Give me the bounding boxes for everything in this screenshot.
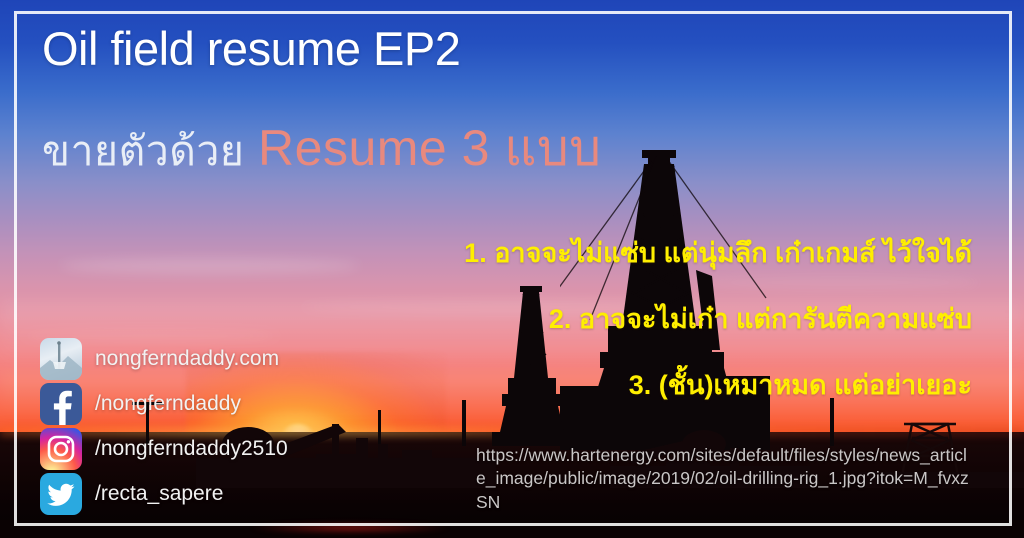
subtitle: ขายตัวด้วย Resume 3 แบบ [42,121,602,177]
social-item-instagram[interactable]: /nongferndaddy2510 [40,428,288,470]
instagram-icon[interactable] [40,428,82,470]
social-label-website: nongferndaddy.com [95,347,279,371]
utility-pole [830,398,834,446]
bullet-list: 1. อาจจะไม่แซ่บ แต่นุ่มลึก เก๋าเกมส์ ไว้… [464,238,972,401]
social-links-list: nongferndaddy.com /nongferndaddy /nongfe… [40,338,288,518]
social-label-facebook: /nongferndaddy [95,392,241,416]
subtitle-thai-prefix: ขายตัวด้วย [42,128,244,174]
subtitle-highlight: Resume 3 แบบ [258,120,601,176]
twitter-icon[interactable] [40,473,82,515]
slide-canvas: Oil field resume EP2 ขายตัวด้วย Resume 3… [0,0,1024,538]
website-icon[interactable] [40,338,82,380]
utility-pole [462,400,466,446]
source-url-watermark: https://www.hartenergy.com/sites/default… [476,444,976,514]
bullet-item-2: 2. อาจจะไม่เก๋า แต่การันตีความแซ่บ [464,304,972,335]
social-item-website[interactable]: nongferndaddy.com [40,338,288,380]
bullet-item-3: 3. (ชั้น)เหมาหมด แต่อย่าเยอะ [464,370,972,401]
social-label-twitter: /recta_sapere [95,482,223,506]
social-item-twitter[interactable]: /recta_sapere [40,473,288,515]
utility-pole [378,410,381,444]
facebook-icon[interactable] [40,383,82,425]
social-item-facebook[interactable]: /nongferndaddy [40,383,288,425]
cloud-wisp [60,258,360,274]
bullet-item-1: 1. อาจจะไม่แซ่บ แต่นุ่มลึก เก๋าเกมส์ ไว้… [464,238,972,269]
bottom-dark-strip [0,520,1024,538]
page-title: Oil field resume EP2 [42,24,460,73]
bottom-red-glow [250,523,450,533]
social-label-instagram: /nongferndaddy2510 [95,437,288,461]
